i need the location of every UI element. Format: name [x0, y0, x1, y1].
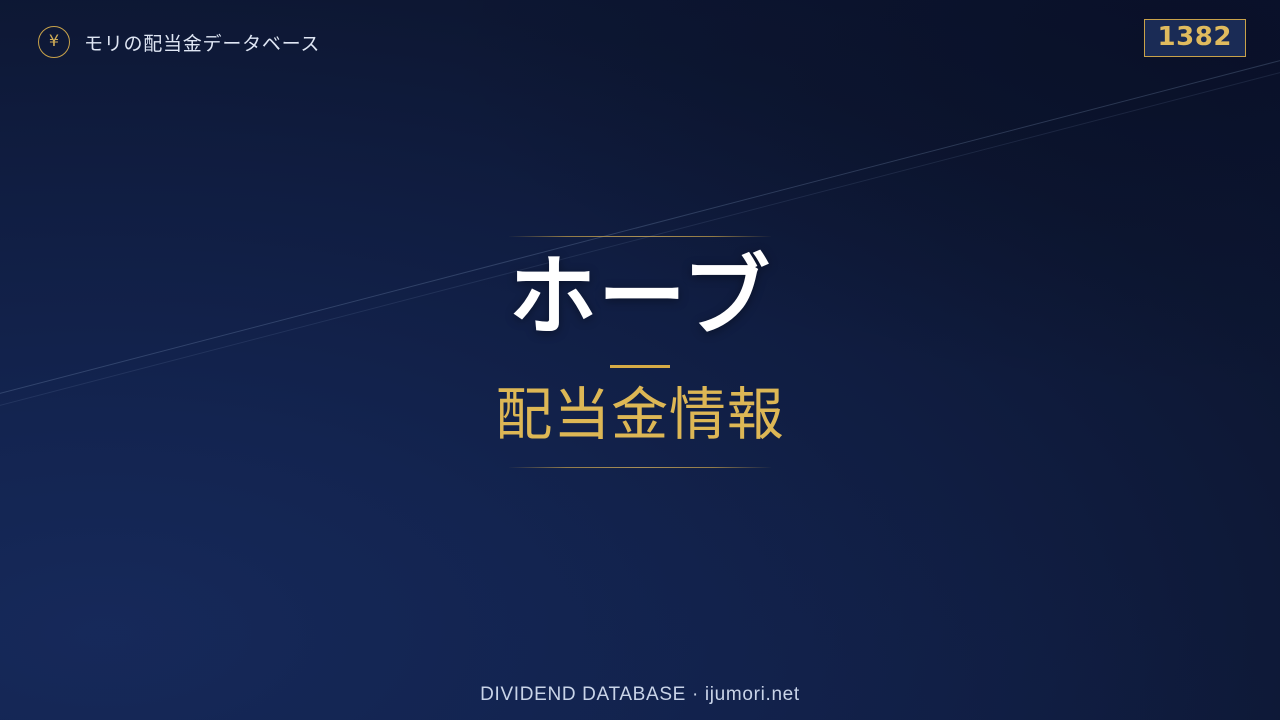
hero-rule-bottom: [509, 467, 771, 468]
slide-canvas: ¥ モリの配当金データベース 1382 ホーブ 配当金情報 DIVIDEND D…: [0, 0, 1280, 720]
title-divider: [610, 365, 670, 368]
yen-circle-icon: ¥: [38, 26, 70, 58]
yen-glyph: ¥: [49, 33, 59, 49]
brand-lockup[interactable]: ¥ モリの配当金データベース: [38, 26, 320, 58]
brand-name: モリの配当金データベース: [84, 29, 320, 56]
hero-rule-top: [509, 236, 771, 237]
page-subtitle: 配当金情報: [495, 385, 784, 447]
footer-credit: DIVIDEND DATABASE · ijumori.net: [0, 684, 1280, 706]
page-title: ホーブ: [509, 249, 772, 344]
stock-code-badge: 1382: [1144, 19, 1246, 57]
hero-block: ホーブ 配当金情報: [0, 236, 1280, 468]
page-header: ¥ モリの配当金データベース 1382: [0, 0, 1280, 88]
